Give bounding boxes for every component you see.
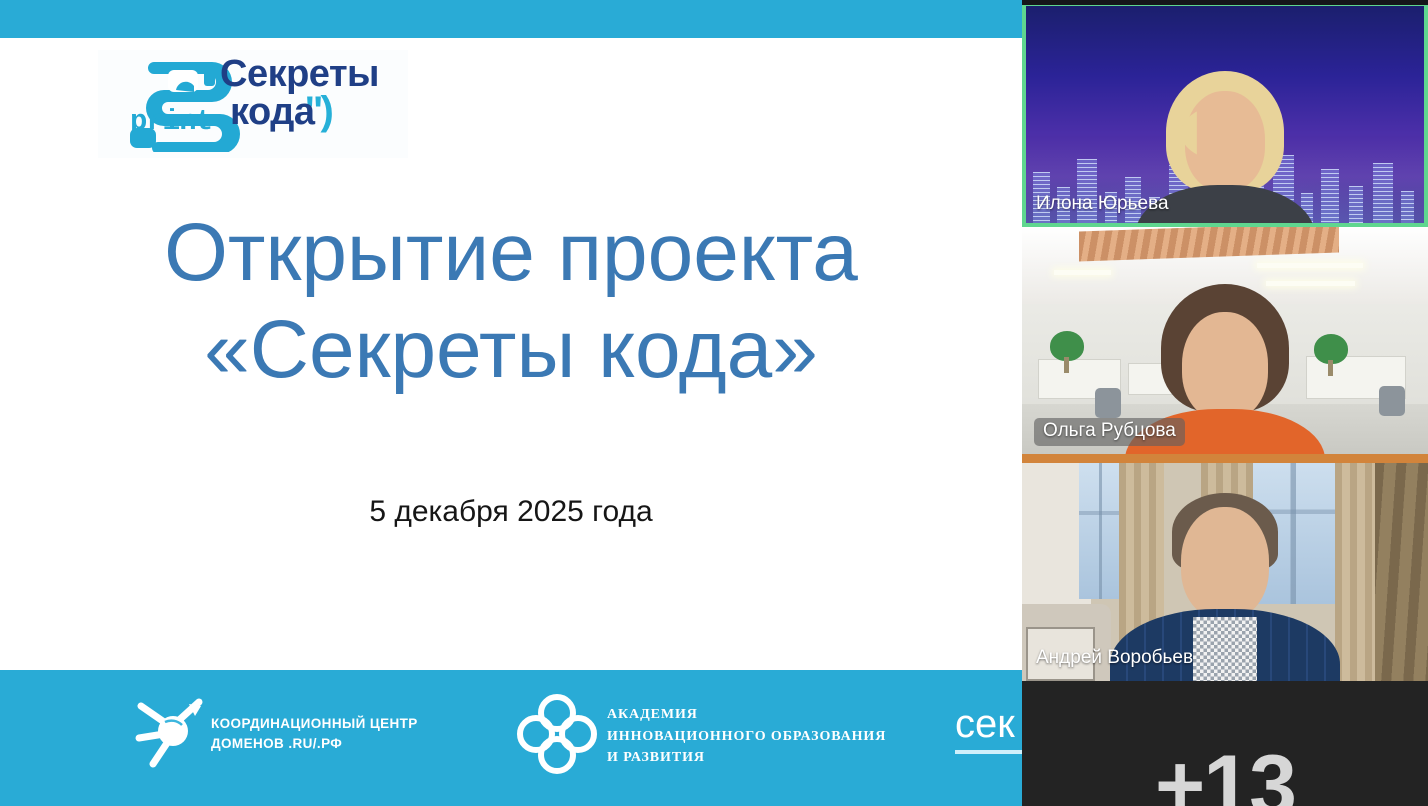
meeting-screen-share-view: print Секреты кода") Открытие проекта «С… <box>0 0 1428 806</box>
partner-2-text: АКАДЕМИЯ ИННОВАЦИОННОГО ОБРАЗОВАНИЯ И РА… <box>607 704 886 769</box>
logo-word-line1: Секреты <box>220 53 379 95</box>
participant-video-rail: Илона Юрьева <box>1022 0 1428 806</box>
slide-title-line1: Открытие проекта <box>164 207 858 298</box>
partner-logo-academy: АКАДЕМИЯ ИННОВАЦИОННОГО ОБРАЗОВАНИЯ И РА… <box>515 692 945 778</box>
partner-2-line1: АКАДЕМИЯ <box>607 707 698 722</box>
partner-3-text: сек <box>955 704 1022 744</box>
participant-name: Илона Юрьева <box>1034 191 1178 219</box>
sputnik-satellite-icon <box>133 698 209 770</box>
partner-2-line2: ИННОВАЦИОННОГО ОБРАЗОВАНИЯ <box>607 729 886 744</box>
sprint-wordmark: print <box>130 107 212 136</box>
slide-title: Открытие проекта «Секреты кода» <box>0 205 1022 399</box>
participant-name: Андрей Воробьев <box>1034 645 1202 673</box>
rail-top-strip <box>1022 0 1428 5</box>
participant-tile[interactable]: Илона Юрьева <box>1022 0 1428 227</box>
partner-3-underline <box>955 750 1022 754</box>
slide-date: 5 декабря 2025 года <box>0 495 1022 529</box>
more-participants-tile[interactable]: +13 <box>1022 681 1428 806</box>
four-circle-clover-icon <box>515 692 599 776</box>
participant-tile[interactable]: Андрей Воробьев <box>1022 454 1428 681</box>
partner-logo-sekrety-koda: сек <box>955 704 1022 760</box>
participant-tile[interactable]: Ольга Рубцова <box>1022 227 1428 454</box>
presentation-slide: print Секреты кода") Открытие проекта «С… <box>0 0 1022 806</box>
partner-1-line2: ДОМЕНОВ .RU/.РФ <box>211 736 342 751</box>
partner-2-line3: И РАЗВИТИЯ <box>607 750 705 765</box>
partner-1-text: КООРДИНАЦИОННЫЙ ЦЕНТР ДОМЕНОВ .RU/.РФ <box>211 714 418 753</box>
participant-name: Ольга Рубцова <box>1034 418 1185 446</box>
more-participants-count: +13 <box>1022 743 1428 806</box>
partner-logo-coordination-center: КООРДИНАЦИОННЫЙ ЦЕНТР ДОМЕНОВ .RU/.РФ <box>133 698 433 770</box>
partner-1-line1: КООРДИНАЦИОННЫЙ ЦЕНТР <box>211 716 418 731</box>
slide-title-line2: «Секреты кода» <box>0 302 1022 399</box>
logo-word-line2: кода <box>230 91 314 133</box>
slide-top-band <box>0 0 1022 38</box>
sekrety-koda-wordmark: Секреты кода") <box>220 56 379 130</box>
sprint-sekrety-koda-logo: print Секреты кода") <box>98 50 408 158</box>
